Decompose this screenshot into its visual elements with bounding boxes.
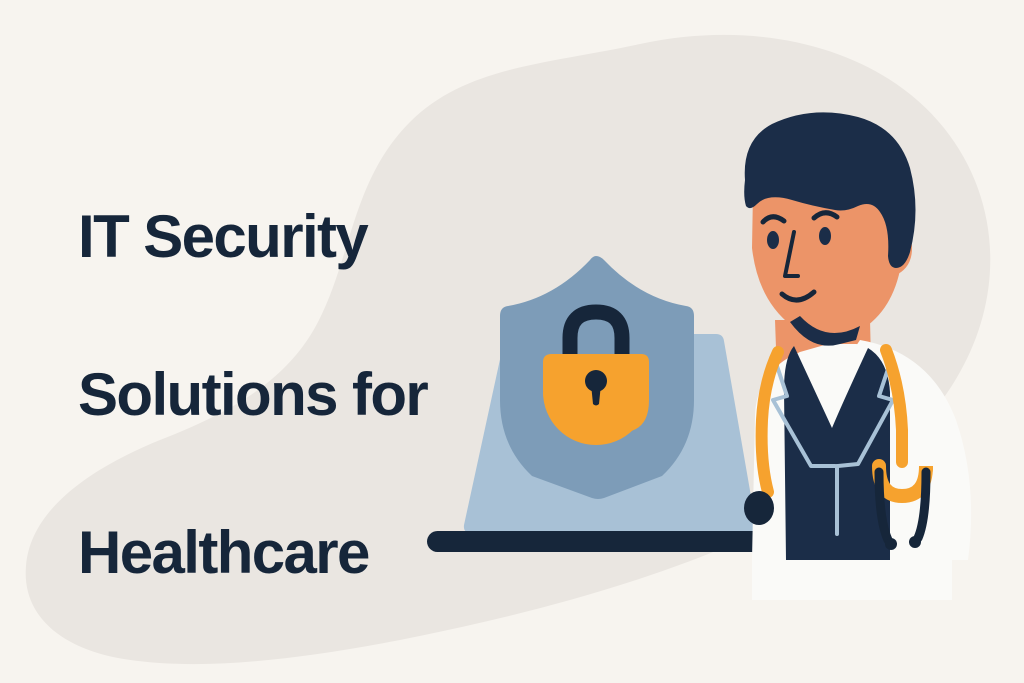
headline-line-1: IT Security (78, 197, 518, 276)
hero-banner: IT Security Solutions for Healthcare Pra… (0, 0, 1024, 683)
doctor-eye-right (819, 227, 831, 245)
stethoscope-tip-left (885, 538, 897, 550)
doctor-eye-left (767, 231, 779, 249)
headline-line-2: Solutions for (78, 355, 518, 434)
headline-line-4: Practices (78, 671, 518, 683)
stethoscope-tip-right (909, 536, 921, 548)
headline-line-3: Healthcare (78, 513, 518, 592)
stethoscope-chest-piece (744, 491, 774, 525)
page-title: IT Security Solutions for Healthcare Pra… (78, 118, 518, 683)
